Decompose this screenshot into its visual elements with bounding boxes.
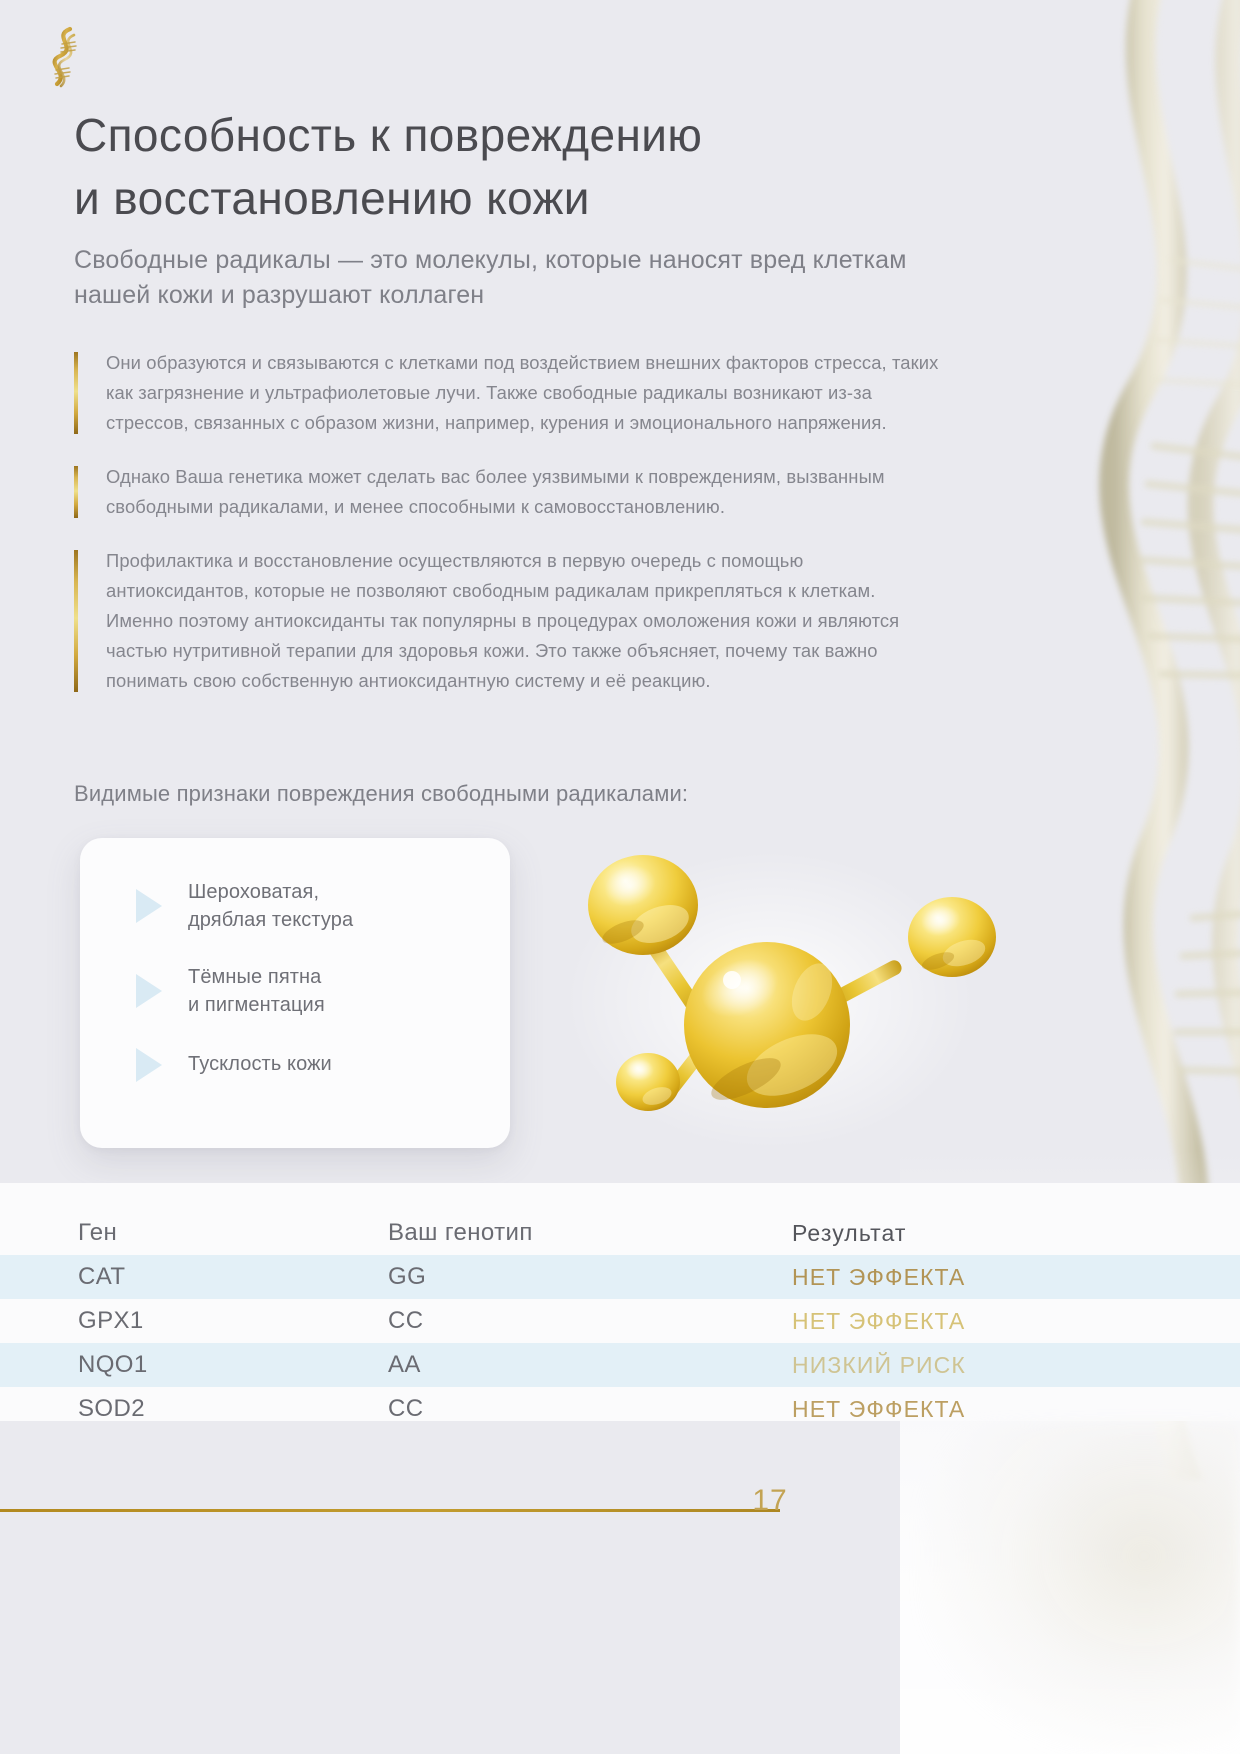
paragraph-block: Они образуются и связываются с клетками … [74, 348, 944, 438]
page-subtitle: Свободные радикалы — это молекулы, котор… [74, 243, 944, 313]
table-row: GPX1 CC НЕТ ЭФФЕКТА [0, 1299, 1240, 1343]
list-item: Шероховатая, дряблая текстура [114, 878, 476, 935]
list-item-label: Шероховатая, дряблая текстура [188, 878, 353, 935]
list-item-label: Тёмные пятна и пигментация [188, 963, 325, 1020]
table-header-row: Ген Ваш генотип Результат [0, 1183, 1240, 1255]
cell-genotype: CC [388, 1307, 792, 1335]
column-header-gene: Ген [78, 1219, 388, 1247]
gold-accent-bar [74, 550, 78, 692]
column-header-genotype: Ваш генотип [388, 1219, 792, 1247]
table-row: SOD2 CC НЕТ ЭФФЕКТА [0, 1387, 1240, 1431]
triangle-right-icon [136, 889, 162, 923]
list-item: Тёмные пятна и пигментация [114, 963, 476, 1020]
visible-signs-card: Шероховатая, дряблая текстура Тёмные пят… [80, 838, 510, 1148]
footer-divider [0, 1509, 780, 1512]
decorative-blur-bottom [920, 1424, 1240, 1754]
status-badge: НЕТ ЭФФЕКТА [792, 1396, 965, 1423]
cell-genotype: AA [388, 1351, 792, 1379]
page-title-line-2: и восстановлению кожи [74, 172, 590, 224]
paragraph-list: Они образуются и связываются с клетками … [74, 348, 944, 696]
paragraph-block: Однако Ваша генетика может сделать вас б… [74, 462, 944, 522]
genotype-table: Ген Ваш генотип Результат CAT GG НЕТ ЭФФ… [0, 1183, 1240, 1421]
cell-gene: CAT [78, 1263, 388, 1291]
paragraph-text: Профилактика и восстановление осуществля… [106, 546, 944, 696]
status-badge: НЕТ ЭФФЕКТА [792, 1308, 965, 1335]
report-page: Способность к повреждению и восстановлен… [0, 0, 1240, 1754]
page-title-line-1: Способность к повреждению [74, 109, 702, 161]
triangle-right-icon [136, 974, 162, 1008]
page-title: Способность к повреждению и восстановлен… [74, 104, 954, 231]
cell-gene: GPX1 [78, 1307, 388, 1335]
gold-accent-bar [74, 466, 78, 518]
list-item-label: Тусклость кожи [188, 1050, 332, 1078]
visible-signs-label: Видимые признаки повреждения свободными … [74, 781, 688, 807]
table-row: NQO1 AA НИЗКИЙ РИСК [0, 1343, 1240, 1387]
paragraph-block: Профилактика и восстановление осуществля… [74, 546, 944, 696]
page-number: 17 [740, 1484, 800, 1518]
status-badge: НЕТ ЭФФЕКТА [792, 1264, 965, 1291]
triangle-right-icon [136, 1048, 162, 1082]
table-row: CAT GG НЕТ ЭФФЕКТА [0, 1255, 1240, 1299]
dna-helix-icon [44, 26, 88, 88]
column-header-result: Результат [792, 1220, 907, 1247]
list-item: Тусклость кожи [114, 1048, 476, 1082]
cell-genotype: CC [388, 1395, 792, 1423]
paragraph-text: Они образуются и связываются с клетками … [106, 348, 944, 438]
gold-accent-bar [74, 352, 78, 434]
paragraph-text: Однако Ваша генетика может сделать вас б… [106, 462, 944, 522]
cell-gene: NQO1 [78, 1351, 388, 1379]
status-badge: НИЗКИЙ РИСК [792, 1352, 966, 1379]
cell-genotype: GG [388, 1263, 792, 1291]
gold-molecule-icon [560, 820, 1030, 1160]
cell-gene: SOD2 [78, 1395, 388, 1423]
